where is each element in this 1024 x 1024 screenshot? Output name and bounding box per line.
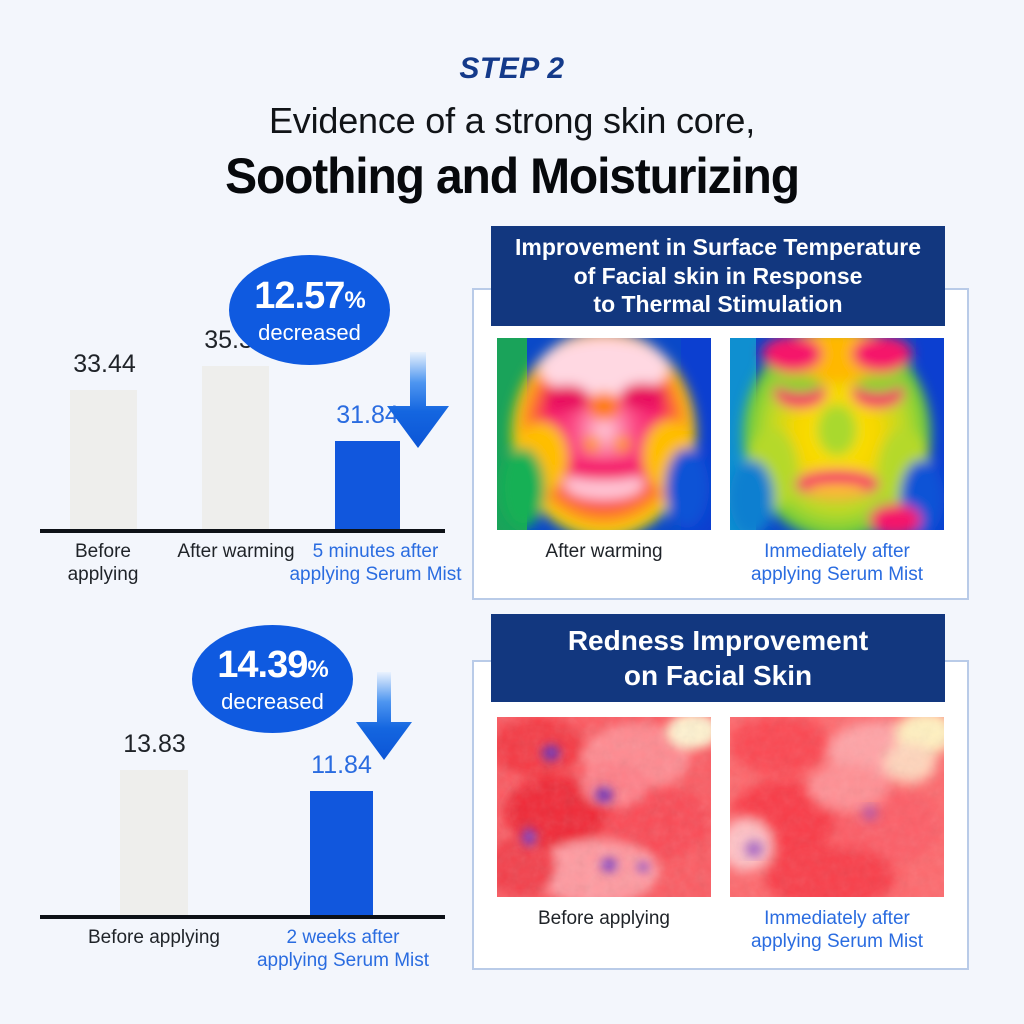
card-header-line: Redness Improvement — [568, 625, 868, 656]
callout-percent-unit: % — [344, 287, 364, 314]
bar-2-weeks-after — [310, 791, 373, 915]
card-header-line: to Thermal Stimulation — [593, 291, 842, 317]
callout-percent-unit: % — [307, 656, 327, 683]
bar-5-minutes-after — [335, 441, 400, 529]
axis-label-line: applying Serum Mist — [289, 564, 461, 585]
caption-line: After warming — [545, 541, 662, 562]
thermal-image-after-warming — [497, 338, 711, 530]
axis-label-line: Before — [75, 541, 131, 562]
card-header-line: on Facial Skin — [624, 660, 812, 691]
axis-label-before-applying: Before applying — [73, 926, 235, 949]
card-redness-header: Redness Improvement on Facial Skin — [491, 614, 945, 702]
callout-percent: 12.57% — [254, 277, 364, 315]
chart-baseline — [40, 915, 445, 919]
card-thermal-header: Improvement in Surface Temperature of Fa… — [491, 226, 945, 326]
bar-value-before-applying: 33.44 — [52, 350, 157, 379]
card-header-line: of Facial skin in Response — [574, 263, 863, 289]
axis-label-line: 2 weeks after — [287, 927, 400, 948]
bar-value-before-applying: 13.83 — [102, 730, 207, 759]
caption-line: Immediately after — [764, 541, 910, 562]
down-arrow-icon — [353, 672, 415, 764]
skin-redness-low-icon — [730, 717, 944, 897]
infographic-root: STEP 2 Evidence of a strong skin core, S… — [0, 0, 1024, 1024]
caption-line: applying Serum Mist — [751, 931, 923, 952]
card-header-line: Improvement in Surface Temperature — [515, 234, 921, 260]
axis-label-2-weeks-after: 2 weeks after applying Serum Mist — [248, 926, 438, 972]
thermal-face-warm-icon — [497, 338, 711, 530]
down-arrow-icon — [383, 352, 453, 452]
axis-label-line: After warming — [177, 541, 294, 562]
axis-label-5-minutes-after: 5 minutes after applying Serum Mist — [283, 540, 468, 586]
thermal-image-after-serum — [730, 338, 944, 530]
caption-line: applying Serum Mist — [751, 564, 923, 585]
bar-before-applying — [120, 770, 188, 915]
axis-label-before-applying: Before applying — [38, 540, 168, 586]
axis-label-line: 5 minutes after — [313, 541, 439, 562]
headline-subtitle: Evidence of a strong skin core, — [0, 100, 1024, 142]
redness-image-before-applying — [497, 717, 711, 897]
redness-caption-before-applying: Before applying — [497, 907, 711, 930]
bar-after-warming — [202, 366, 269, 529]
card-redness-header-text: Redness Improvement on Facial Skin — [568, 623, 868, 693]
callout-percent: 14.39% — [217, 646, 327, 684]
chart-baseline — [40, 529, 445, 533]
thermal-caption-after-warming: After warming — [497, 540, 711, 563]
skin-redness-high-icon — [497, 717, 711, 897]
callout-bubble-redness: 14.39% decreased — [192, 625, 353, 733]
step-label: STEP 2 — [0, 52, 1024, 86]
axis-label-line: Before applying — [88, 927, 220, 948]
callout-caption: decreased — [221, 691, 324, 713]
axis-label-line: applying — [68, 564, 139, 585]
axis-label-line: applying Serum Mist — [257, 950, 429, 971]
headline-title: Soothing and Moisturizing — [20, 147, 1003, 205]
caption-line: Immediately after — [764, 908, 910, 929]
card-thermal-header-text: Improvement in Surface Temperature of Fa… — [515, 233, 921, 319]
redness-caption-after-serum: Immediately after applying Serum Mist — [730, 907, 944, 953]
caption-line: Before applying — [538, 908, 670, 929]
thermal-face-cool-icon — [730, 338, 944, 530]
callout-caption: decreased — [258, 322, 361, 344]
bar-before-applying — [70, 390, 137, 529]
thermal-caption-after-serum: Immediately after applying Serum Mist — [730, 540, 944, 586]
callout-bubble-temperature: 12.57% decreased — [229, 255, 390, 365]
redness-image-after-serum — [730, 717, 944, 897]
